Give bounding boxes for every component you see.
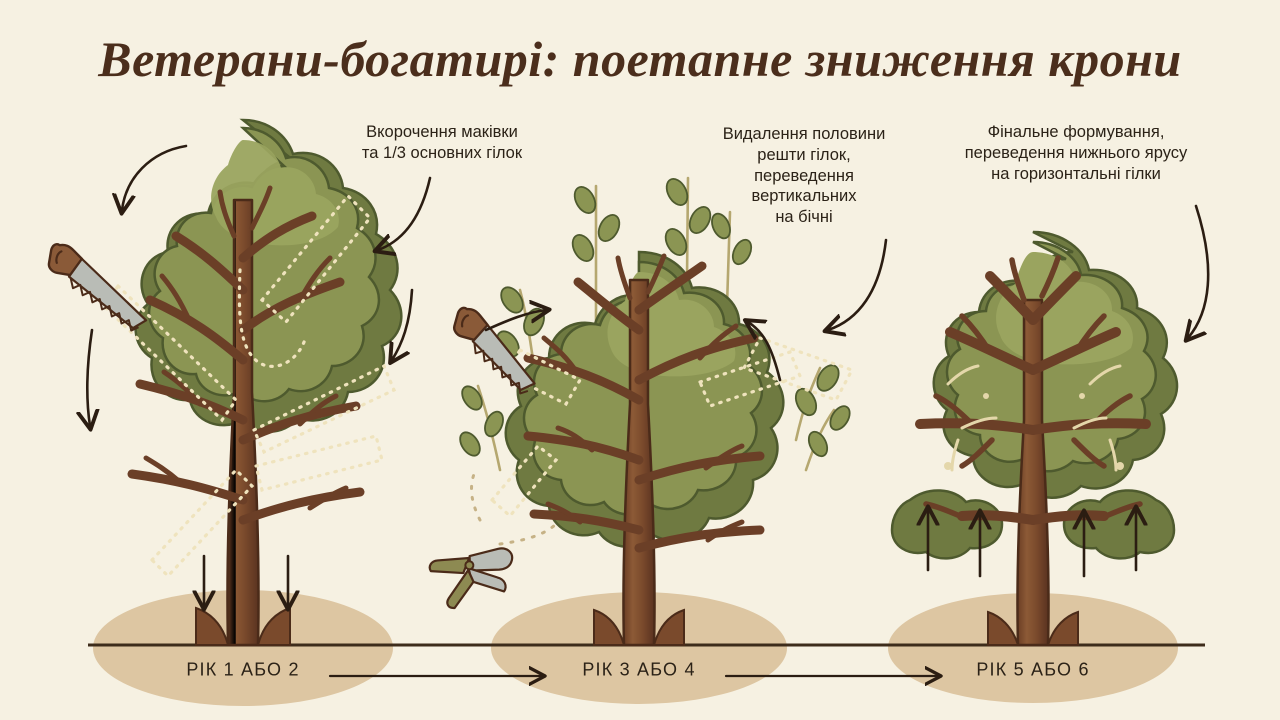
tree-stage-2 [421, 175, 886, 645]
page-title: Ветерани-богатирі: поетапне зниження кро… [0, 30, 1280, 88]
illustration-layer [0, 0, 1280, 720]
tree-stage-3 [892, 206, 1208, 645]
infographic-canvas: Ветерани-богатирі: поетапне зниження кро… [0, 0, 1280, 720]
annotation-stage-1: Вкорочення маківки та 1/3 основних гілок [308, 122, 576, 164]
curved-arrow-icon [828, 240, 886, 330]
tree-stage-1 [40, 120, 430, 645]
stage-label-3: РІК 5 АБО 6 [976, 660, 1089, 681]
curved-arrow-icon [1188, 206, 1208, 338]
annotation-stage-3: Фінальне формування, переведення нижньог… [940, 122, 1212, 184]
curved-arrow-icon [87, 330, 92, 426]
stage-label-2: РІК 3 АБО 4 [582, 660, 695, 681]
stage-label-1: РІК 1 АБО 2 [186, 660, 299, 681]
saw-icon [40, 239, 155, 334]
annotation-stage-2: Видалення половини решти гілок, переведе… [688, 124, 920, 228]
curved-arrow-icon [122, 146, 186, 210]
curved-arrow-icon [378, 178, 430, 250]
